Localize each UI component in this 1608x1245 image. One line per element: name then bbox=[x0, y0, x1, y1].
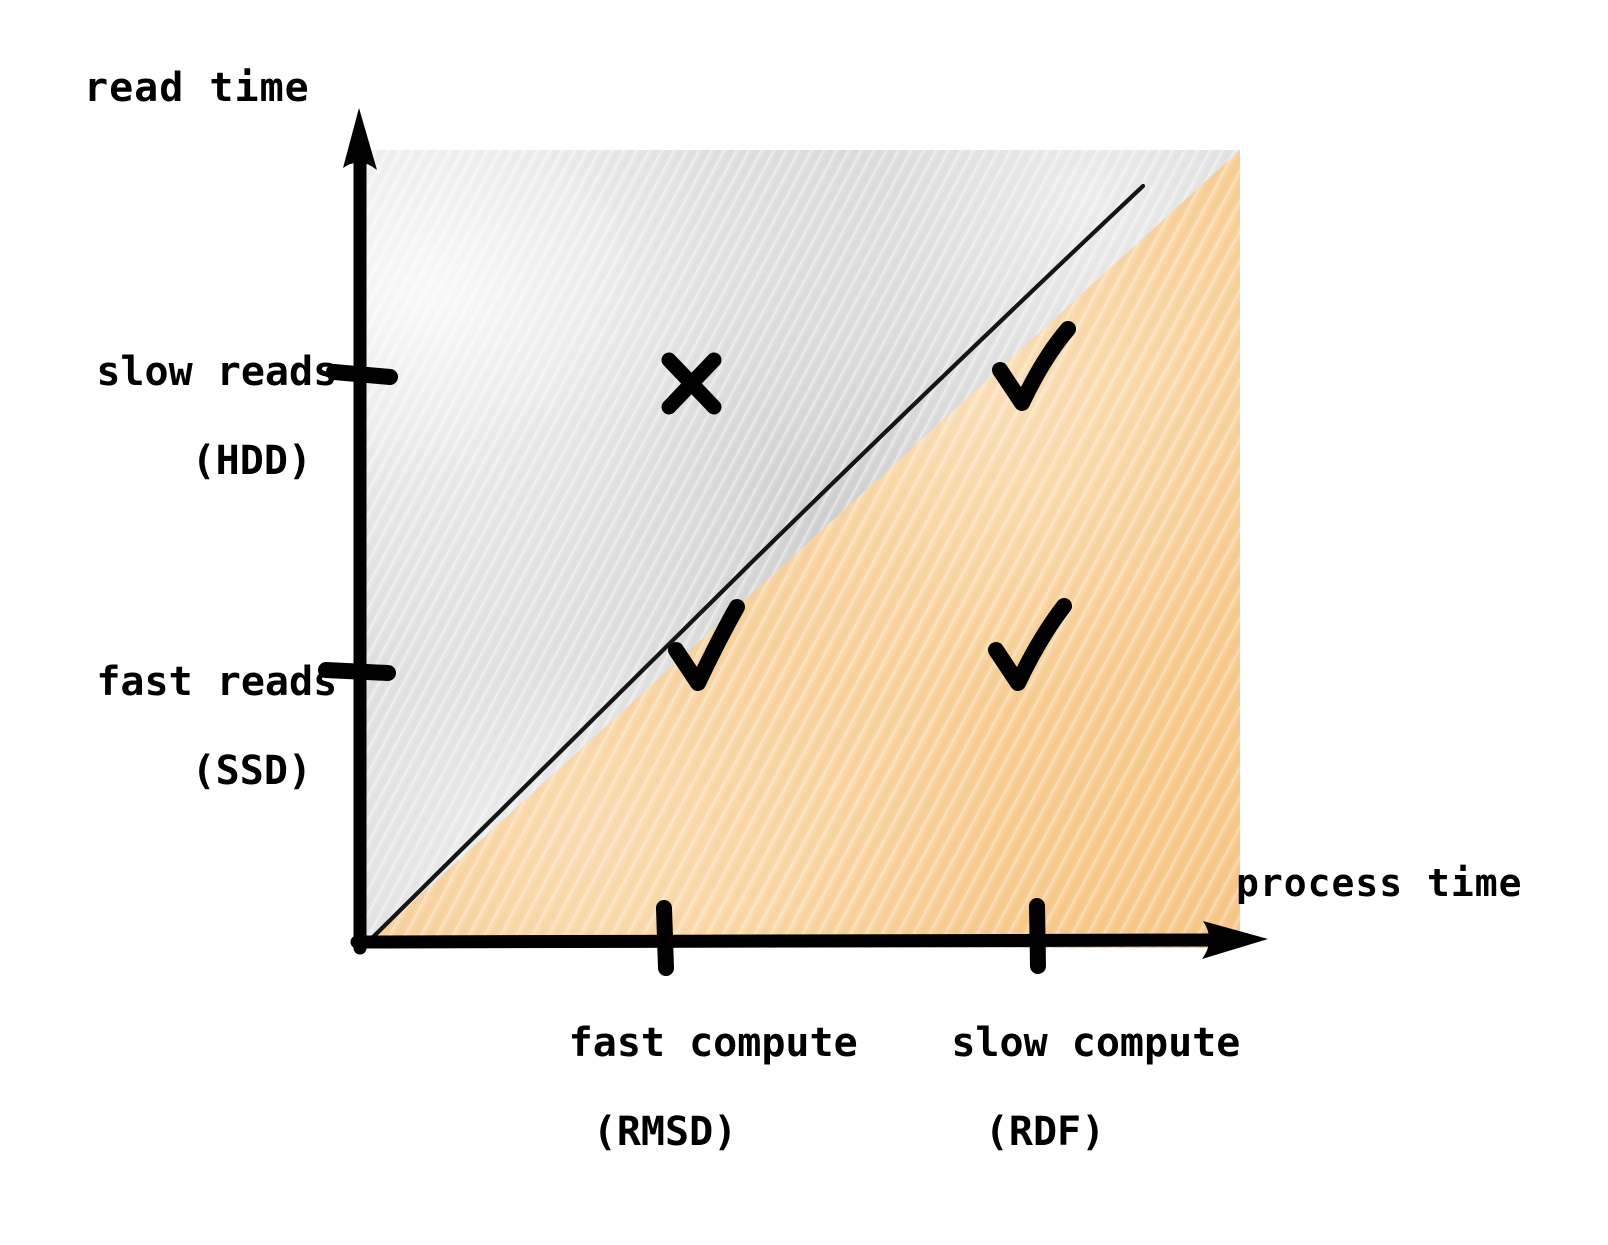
x-axis-title: process time bbox=[1236, 862, 1523, 905]
x-tick-label-fast-compute-line2: (RMSD) bbox=[455, 1110, 875, 1155]
y-tick-label-slow-reads: slow reads (HDD) bbox=[0, 305, 322, 574]
y-tick-label-fast-reads-line2: (SSD) bbox=[0, 749, 322, 794]
x-tick-label-slow-compute-line1: slow compute bbox=[951, 1020, 1240, 1066]
x-tick-label-slow-compute-line2: (RDF) bbox=[855, 1110, 1235, 1155]
plot-area bbox=[362, 150, 1240, 948]
x-tick-label-fast-compute-line1: fast compute bbox=[569, 1020, 858, 1066]
y-tick-label-fast-reads: fast reads (SSD) bbox=[0, 615, 322, 884]
x-tick-label-fast-compute: fast compute (RMSD) bbox=[455, 976, 875, 1245]
y-tick-label-fast-reads-line1: fast reads bbox=[96, 659, 337, 705]
diagram-canvas: read time process time slow reads (HDD) … bbox=[0, 0, 1608, 1117]
y-tick-label-slow-reads-line1: slow reads bbox=[96, 349, 337, 395]
x-tick-label-slow-compute: slow compute (RDF) bbox=[855, 976, 1235, 1245]
y-axis-title: read time bbox=[84, 66, 310, 111]
y-tick-label-slow-reads-line2: (HDD) bbox=[0, 439, 322, 484]
diagonal-divider bbox=[362, 150, 1240, 948]
